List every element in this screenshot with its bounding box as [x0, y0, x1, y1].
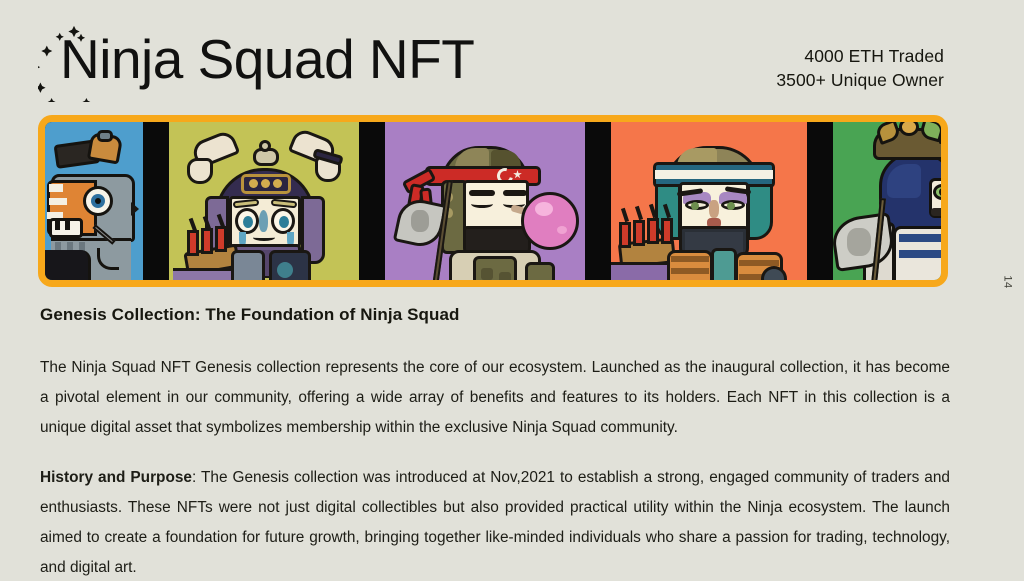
page-number: 14: [1001, 275, 1013, 288]
panel-separator: [359, 122, 385, 280]
page-header: Ninja Squad NFT 4000 ETH Traded 3500+ Un…: [0, 0, 1024, 110]
stat-unique-owners: 3500+ Unique Owner: [776, 68, 944, 92]
section-heading: Genesis Collection: The Foundation of Ni…: [40, 305, 950, 325]
panel-separator: [807, 122, 833, 280]
nft-art-bubblegum-ninja: [385, 122, 585, 280]
stat-eth-traded: 4000 ETH Traded: [776, 44, 944, 68]
panel-separator: [585, 122, 611, 280]
nft-art-crying-ninja-with-dynamite: [169, 122, 359, 280]
nft-strip: [45, 122, 941, 280]
slide-page: Ninja Squad NFT 4000 ETH Traded 3500+ Un…: [0, 0, 1024, 581]
panel-separator: [143, 122, 169, 280]
paragraph-history-and-purpose: History and Purpose: The Genesis collect…: [40, 463, 950, 581]
nft-panel-tiger-mask-ninja[interactable]: [45, 122, 143, 280]
nft-art-tiger-mask-ninja: [45, 122, 143, 280]
nft-art-forest-helm-ninja: [833, 122, 941, 280]
nft-showcase-banner[interactable]: [38, 115, 948, 287]
paragraph-genesis-overview: The Ninja Squad NFT Genesis collection r…: [40, 353, 950, 443]
content-body: Genesis Collection: The Foundation of Ni…: [40, 305, 950, 581]
paragraph-lead-label: History and Purpose: [40, 469, 192, 486]
paragraph-text: The Ninja Squad NFT Genesis collection r…: [40, 359, 950, 436]
nft-panel-teal-hair-archer-ninja[interactable]: [611, 122, 807, 280]
nft-panel-bubblegum-ninja-turkish-headband[interactable]: [385, 122, 585, 280]
page-title: Ninja Squad NFT: [60, 18, 474, 100]
collection-stats: 4000 ETH Traded 3500+ Unique Owner: [776, 44, 944, 92]
nft-panel-forest-helm-ninja[interactable]: [833, 122, 941, 280]
nft-panel-crying-ninja-with-dynamite[interactable]: [169, 122, 359, 280]
nft-art-teal-hair-archer-ninja: [611, 122, 807, 280]
